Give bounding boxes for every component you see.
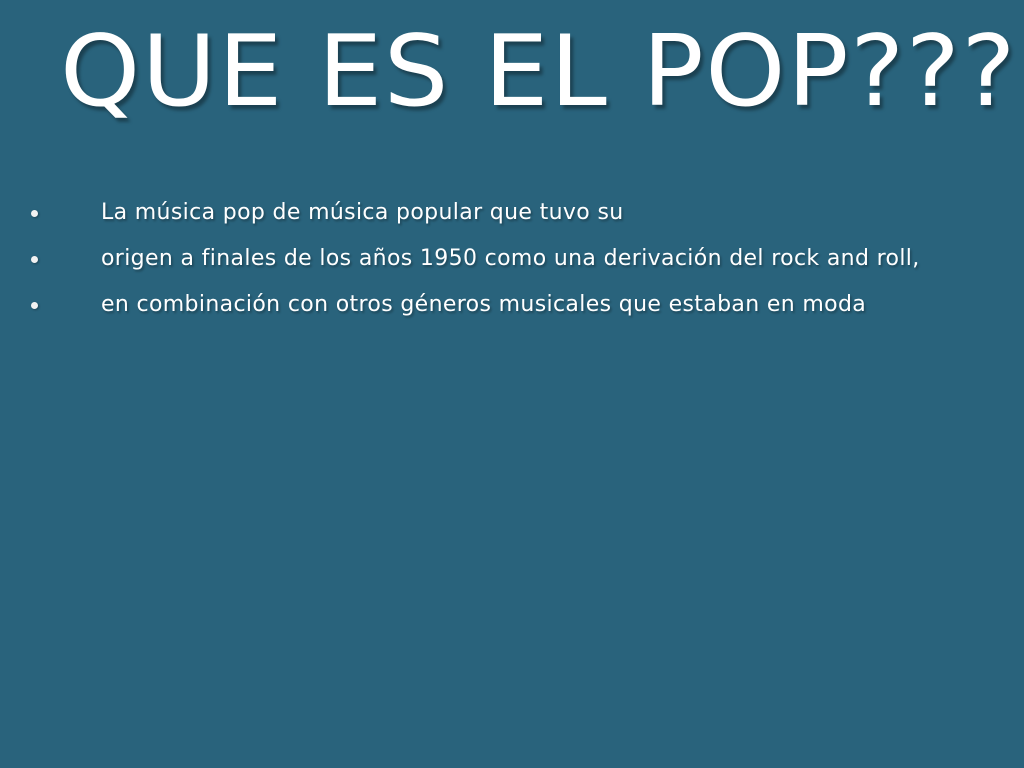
bullet-item-text: en combinación con otros géneros musical… — [101, 291, 866, 319]
presentation-slide: QUE ES EL POP??? La música pop de música… — [0, 0, 1024, 768]
list-item: origen a finales de los años 1950 como u… — [0, 236, 1024, 282]
slide-title: QUE ES EL POP??? — [60, 16, 1017, 128]
bullet-item-text: origen a finales de los años 1950 como u… — [101, 245, 920, 273]
bullet-dot-icon — [31, 256, 38, 263]
list-item: La música pop de música popular que tuvo… — [0, 190, 1024, 236]
list-item: en combinación con otros géneros musical… — [0, 282, 1024, 328]
bullet-dot-icon — [31, 302, 38, 309]
bullet-item-text: La música pop de música popular que tuvo… — [101, 199, 624, 227]
bullet-dot-icon — [31, 210, 38, 217]
bullet-list: La música pop de música popular que tuvo… — [0, 190, 1024, 328]
